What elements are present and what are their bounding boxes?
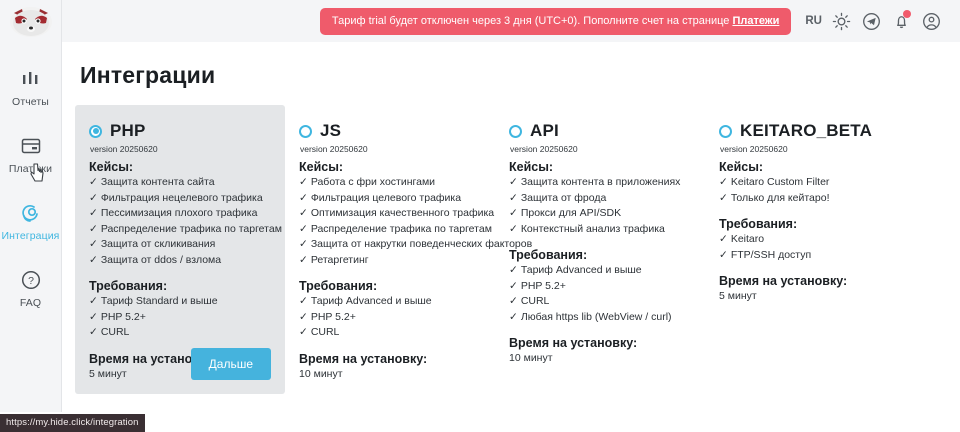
section-title-cases: Кейсы: xyxy=(299,160,481,174)
integration-card-js[interactable]: JSversion 20250620Кейсы:✓Работа с фри хо… xyxy=(285,105,495,394)
list-item: ✓Тариф Advanced и выше xyxy=(299,294,481,310)
requirements-list: ✓Тариф Advanced и выше✓PHP 5.2+✓CURL xyxy=(299,294,481,341)
app-root: Отчеты Платежи xyxy=(0,0,960,432)
check-icon: ✓ xyxy=(299,176,308,188)
list-item: ✓Тариф Standard и выше xyxy=(89,294,271,310)
section-title-install-time: Время на установку: xyxy=(299,352,481,366)
list-item: ✓CURL xyxy=(299,325,481,341)
check-icon: ✓ xyxy=(299,254,308,266)
cases-item-label: Защита контента сайта xyxy=(101,176,215,188)
section-title-requirements: Требования: xyxy=(299,279,481,293)
radio-inner-dot xyxy=(93,128,99,134)
theme-sun-icon[interactable] xyxy=(826,6,856,36)
list-item: ✓Защита от накрутки поведенческих фактор… xyxy=(299,237,481,253)
cases-list: ✓Работа с фри хостингами✓Фильтрация целе… xyxy=(299,175,481,268)
cases-item-label: Распределение трафика по таргетам xyxy=(311,223,492,235)
cases-list: ✓Keitaro Custom Filter✓Только для кейтар… xyxy=(719,175,901,206)
section-title-requirements: Требования: xyxy=(719,217,901,231)
section-title-cases: Кейсы: xyxy=(509,160,691,174)
sidebar-item-label: Отчеты xyxy=(12,96,49,108)
requirements-item-label: FTP/SSH доступ xyxy=(731,249,811,261)
cases-item-label: Keitaro Custom Filter xyxy=(731,176,830,188)
check-icon: ✓ xyxy=(299,238,308,250)
trial-warning-banner: Тариф trial будет отключен через 3 дня (… xyxy=(320,8,791,35)
check-icon: ✓ xyxy=(719,233,728,245)
bell-icon[interactable] xyxy=(886,6,916,36)
requirements-list: ✓Тариф Advanced и выше✓PHP 5.2+✓CURL✓Люб… xyxy=(509,263,691,325)
list-item: ✓PHP 5.2+ xyxy=(299,310,481,326)
install-time-value: 10 минут xyxy=(299,368,481,380)
card-title: API xyxy=(530,121,559,141)
cases-item-label: Фильтрация нецелевого трафика xyxy=(101,192,263,204)
card-title: PHP xyxy=(110,121,146,141)
card-title: KEITARO_BETA xyxy=(740,121,872,141)
list-item: ✓Фильтрация целевого трафика xyxy=(299,191,481,207)
card-header: JS xyxy=(299,121,481,141)
requirements-item-label: PHP 5.2+ xyxy=(521,280,566,292)
card-header: PHP xyxy=(89,121,271,141)
list-item: ✓Любая https lib (WebView / curl) xyxy=(509,310,691,326)
section-title-install-time: Время на установку: xyxy=(719,274,901,288)
cases-item-label: Защита от фрода xyxy=(521,192,607,204)
radio-selected-icon[interactable] xyxy=(89,125,102,138)
radio-unselected-icon[interactable] xyxy=(299,125,312,138)
telegram-icon[interactable] xyxy=(856,6,886,36)
section-title-requirements: Требования: xyxy=(89,279,271,293)
check-icon: ✓ xyxy=(89,176,98,188)
browser-status-url: https://my.hide.click/integration xyxy=(0,414,145,432)
sidebar-item-faq[interactable]: ? FAQ xyxy=(0,259,61,316)
check-icon: ✓ xyxy=(89,295,98,307)
cases-item-label: Распределение трафика по таргетам xyxy=(101,223,282,235)
requirements-item-label: Тариф Standard и выше xyxy=(101,295,218,307)
language-selector[interactable]: RU xyxy=(805,15,822,27)
list-item: ✓FTP/SSH доступ xyxy=(719,248,901,264)
card-header: KEITARO_BETA xyxy=(719,121,901,141)
requirements-list: ✓Keitaro✓FTP/SSH доступ xyxy=(719,232,901,263)
list-item: ✓Работа с фри хостингами xyxy=(299,175,481,191)
check-icon: ✓ xyxy=(299,192,308,204)
section-title-requirements: Требования: xyxy=(509,248,691,262)
install-time-value: 5 минут xyxy=(719,290,901,302)
sidebar-nav: Отчеты Платежи xyxy=(0,58,61,316)
list-item: ✓PHP 5.2+ xyxy=(89,310,271,326)
list-item: ✓Защита контента сайта xyxy=(89,175,271,191)
check-icon: ✓ xyxy=(89,192,98,204)
sidebar-item-label: Платежи xyxy=(9,163,52,175)
account-icon[interactable] xyxy=(916,6,946,36)
next-button[interactable]: Дальше xyxy=(191,348,271,380)
integration-card-php[interactable]: PHPversion 20250620Кейсы:✓Защита контент… xyxy=(75,105,285,394)
list-item: ✓Keitaro Custom Filter xyxy=(719,175,901,191)
card-version: version 20250620 xyxy=(90,144,271,154)
cases-item-label: Пессимизация плохого трафика xyxy=(101,207,258,219)
list-item: ✓Контекстный анализ трафика xyxy=(509,222,691,238)
raccoon-logo[interactable] xyxy=(7,4,55,40)
check-icon: ✓ xyxy=(719,192,728,204)
check-icon: ✓ xyxy=(299,295,308,307)
list-item: ✓Защита от ddos / взлома xyxy=(89,253,271,269)
requirements-item-label: CURL xyxy=(521,295,550,307)
check-icon: ✓ xyxy=(509,207,518,219)
cases-item-label: Оптимизация качественного трафика xyxy=(311,207,494,219)
top-header: Тариф trial будет отключен через 3 дня (… xyxy=(62,0,960,42)
list-item: ✓Распределение трафика по таргетам xyxy=(89,222,271,238)
notification-badge xyxy=(903,10,911,18)
list-item: ✓Прокси для API/SDK xyxy=(509,206,691,222)
check-icon: ✓ xyxy=(89,254,98,266)
list-item: ✓Ретаргетинг xyxy=(299,253,481,269)
check-icon: ✓ xyxy=(719,176,728,188)
check-icon: ✓ xyxy=(89,311,98,323)
requirements-item-label: Любая https lib (WebView / curl) xyxy=(521,311,672,323)
list-item: ✓Только для кейтаро! xyxy=(719,191,901,207)
requirements-item-label: Keitaro xyxy=(731,233,764,245)
integration-card-api[interactable]: APIversion 20250620Кейсы:✓Защита контент… xyxy=(495,105,705,394)
section-title-install-time: Время на установку: xyxy=(509,336,691,350)
sidebar-item-integraciya[interactable]: Интеграция xyxy=(0,192,61,249)
list-item: ✓Защита от фрода xyxy=(509,191,691,207)
list-item: ✓Защита контента в приложениях xyxy=(509,175,691,191)
check-icon: ✓ xyxy=(299,311,308,323)
check-icon: ✓ xyxy=(509,280,518,292)
check-icon: ✓ xyxy=(509,311,518,323)
cases-item-label: Контекстный анализ трафика xyxy=(521,223,665,235)
radio-unselected-icon[interactable] xyxy=(509,125,522,138)
cases-item-label: Ретаргетинг xyxy=(311,254,369,266)
check-icon: ✓ xyxy=(89,326,98,338)
cases-list: ✓Защита контента сайта✓Фильтрация нецеле… xyxy=(89,175,271,268)
card-version: version 20250620 xyxy=(300,144,481,154)
main-content: Интеграции PHPversion 20250620Кейсы:✓Защ… xyxy=(62,42,960,432)
list-item: ✓CURL xyxy=(509,294,691,310)
check-icon: ✓ xyxy=(89,207,98,219)
requirements-item-label: CURL xyxy=(311,326,340,338)
requirements-item-label: Тариф Advanced и выше xyxy=(311,295,432,307)
list-item: ✓Оптимизация качественного трафика xyxy=(299,206,481,222)
cases-list: ✓Защита контента в приложениях✓Защита от… xyxy=(509,175,691,237)
requirements-item-label: PHP 5.2+ xyxy=(311,311,356,323)
integration-cards: PHPversion 20250620Кейсы:✓Защита контент… xyxy=(62,105,960,394)
section-title-cases: Кейсы: xyxy=(89,160,271,174)
banner-payments-link[interactable]: Платежи xyxy=(732,15,779,27)
sidebar: Отчеты Платежи xyxy=(0,0,62,412)
page-title: Интеграции xyxy=(62,42,960,89)
cases-item-label: Защита от скликивания xyxy=(101,238,216,250)
check-icon: ✓ xyxy=(89,223,98,235)
list-item: ✓Распределение трафика по таргетам xyxy=(299,222,481,238)
cases-item-label: Фильтрация целевого трафика xyxy=(311,192,461,204)
check-icon: ✓ xyxy=(719,249,728,261)
sidebar-item-label: Интеграция xyxy=(2,230,60,242)
sidebar-item-label: FAQ xyxy=(20,297,41,309)
list-item: ✓Keitaro xyxy=(719,232,901,248)
list-item: ✓PHP 5.2+ xyxy=(509,279,691,295)
card-title: JS xyxy=(320,121,341,141)
check-icon: ✓ xyxy=(509,223,518,235)
requirements-item-label: PHP 5.2+ xyxy=(101,311,146,323)
sidebar-item-otchety[interactable]: Отчеты xyxy=(0,58,61,115)
check-icon: ✓ xyxy=(89,238,98,250)
list-item: ✓CURL xyxy=(89,325,271,341)
card-icon xyxy=(20,134,42,158)
list-item: ✓Защита от скликивания xyxy=(89,237,271,253)
check-icon: ✓ xyxy=(509,192,518,204)
list-item: ✓Тариф Advanced и выше xyxy=(509,263,691,279)
install-time-value: 10 минут xyxy=(509,352,691,364)
cases-item-label: Прокси для API/SDK xyxy=(521,207,621,219)
cases-item-label: Только для кейтаро! xyxy=(731,192,830,204)
bar-chart-icon xyxy=(20,67,42,91)
card-header: API xyxy=(509,121,691,141)
card-version: version 20250620 xyxy=(510,144,691,154)
svg-text:?: ? xyxy=(28,275,34,287)
check-icon: ✓ xyxy=(509,176,518,188)
question-icon: ? xyxy=(20,268,42,292)
cases-item-label: Работа с фри хостингами xyxy=(311,176,435,188)
check-icon: ✓ xyxy=(299,326,308,338)
sidebar-item-platezhi[interactable]: Платежи xyxy=(0,125,61,182)
banner-text: Тариф trial будет отключен через 3 дня (… xyxy=(332,15,733,27)
card-version: version 20250620 xyxy=(720,144,901,154)
check-icon: ✓ xyxy=(299,207,308,219)
check-icon: ✓ xyxy=(299,223,308,235)
list-item: ✓Пессимизация плохого трафика xyxy=(89,206,271,222)
radio-unselected-icon[interactable] xyxy=(719,125,732,138)
integration-card-keitaro_beta[interactable]: KEITARO_BETAversion 20250620Кейсы:✓Keita… xyxy=(705,105,915,394)
list-item: ✓Фильтрация нецелевого трафика xyxy=(89,191,271,207)
cases-item-label: Защита контента в приложениях xyxy=(521,176,681,188)
cases-item-label: Защита от ddos / взлома xyxy=(101,254,221,266)
requirements-item-label: Тариф Advanced и выше xyxy=(521,264,642,276)
check-icon: ✓ xyxy=(509,264,518,276)
integration-icon xyxy=(19,201,43,225)
requirements-item-label: CURL xyxy=(101,326,130,338)
section-title-cases: Кейсы: xyxy=(719,160,901,174)
requirements-list: ✓Тариф Standard и выше✓PHP 5.2+✓CURL xyxy=(89,294,271,341)
check-icon: ✓ xyxy=(509,295,518,307)
